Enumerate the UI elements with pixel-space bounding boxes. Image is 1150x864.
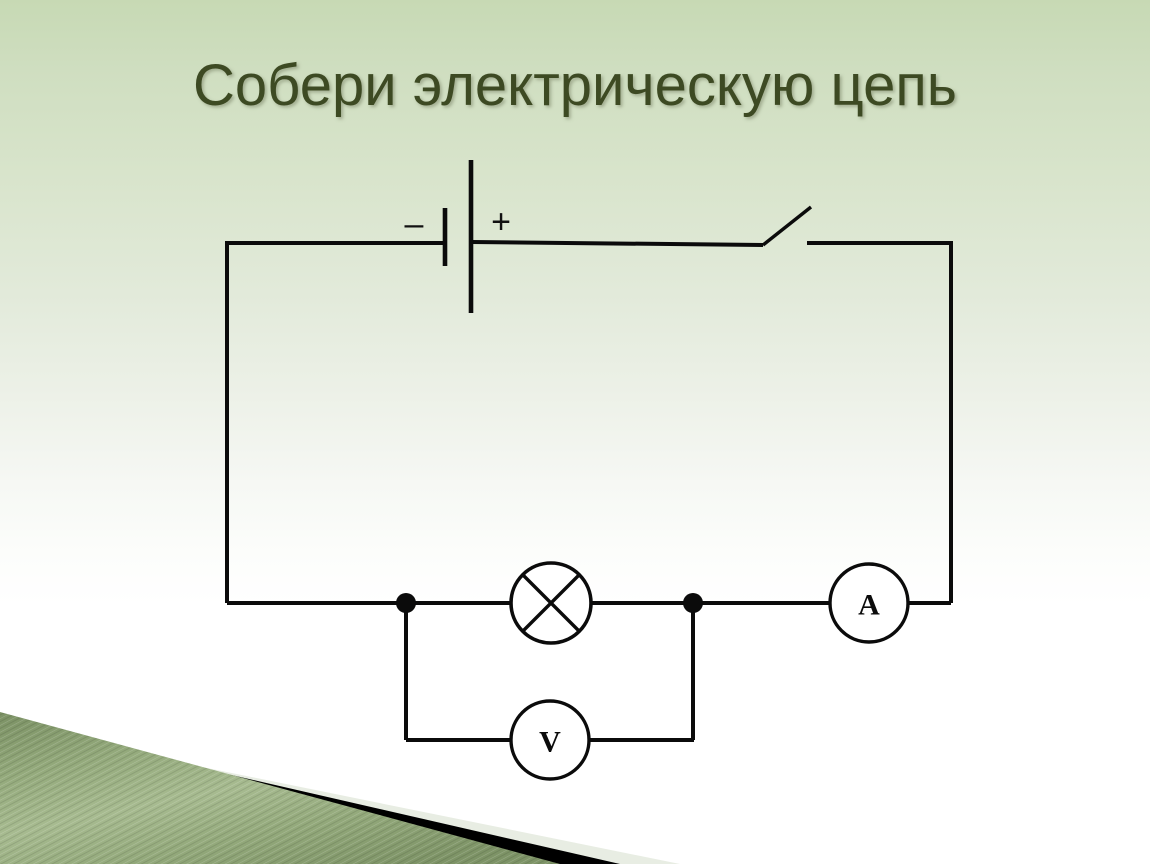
battery-minus-sign: – <box>405 205 424 243</box>
ammeter-label: A <box>858 589 880 622</box>
voltmeter-symbol[interactable]: V <box>511 701 589 779</box>
wire-battery-to-switch <box>472 242 763 245</box>
switch-lever <box>763 207 811 245</box>
battery-symbol[interactable]: – + <box>405 160 511 313</box>
battery-plus-sign: + <box>491 203 511 241</box>
junction-dot-left <box>396 593 416 613</box>
circuit-diagram: – + A V <box>0 0 1150 864</box>
ammeter-symbol[interactable]: A <box>830 564 908 642</box>
lamp-symbol[interactable] <box>511 563 591 643</box>
switch-symbol[interactable] <box>763 207 811 245</box>
voltmeter-label: V <box>539 726 561 759</box>
slide-canvas: Собери электрическую цепь – + <box>0 0 1150 864</box>
junction-dot-right <box>683 593 703 613</box>
